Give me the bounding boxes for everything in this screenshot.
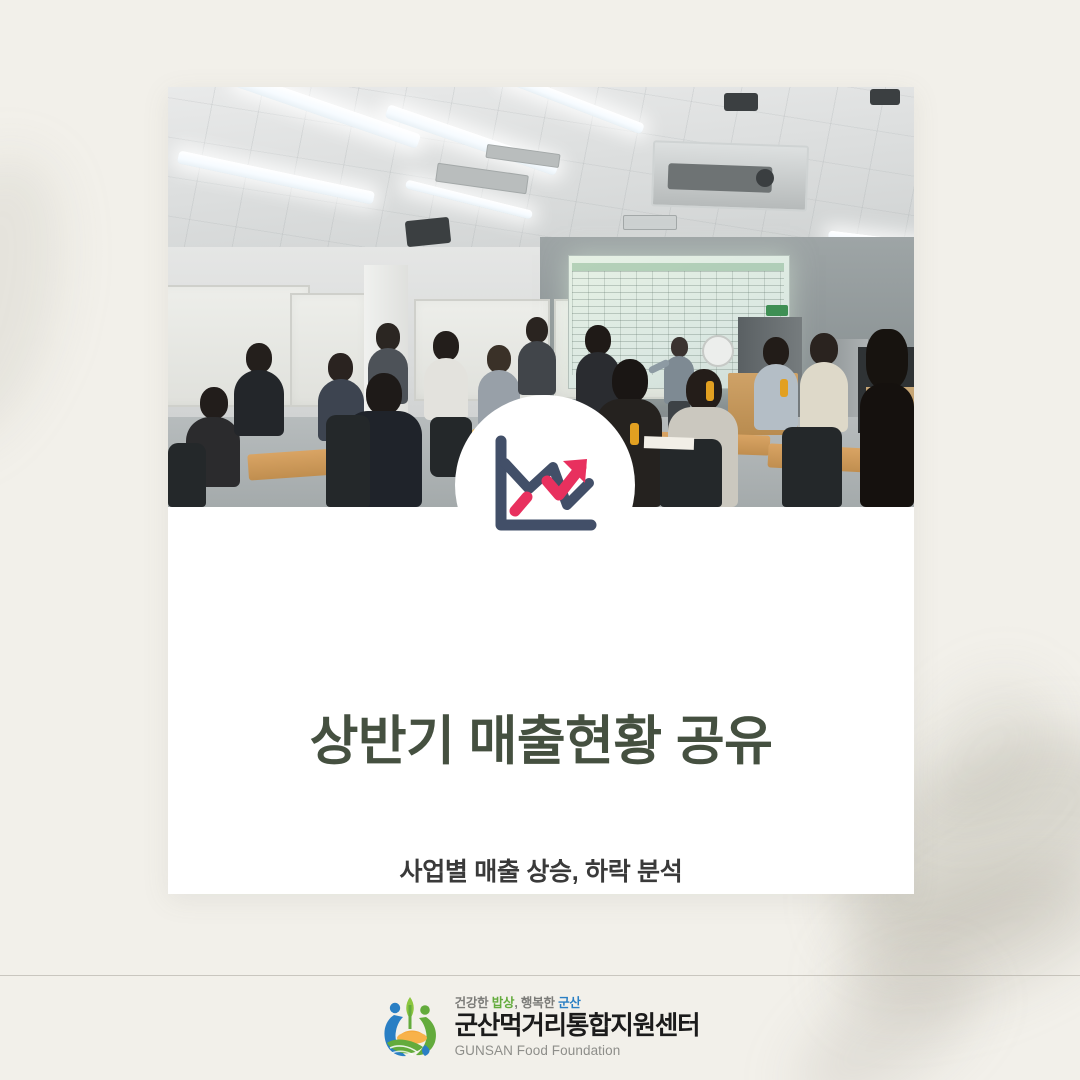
logo-tagline: 건강한 밥상, 행복한 군산 bbox=[455, 997, 700, 1011]
photo-person-head bbox=[612, 359, 648, 403]
photo-attendee bbox=[234, 343, 284, 463]
photo-person-body bbox=[754, 364, 798, 430]
photo-person-head bbox=[585, 325, 611, 355]
photo-person-head bbox=[366, 373, 402, 415]
logo-tagline-highlight-bapsang: 밥상 bbox=[492, 996, 515, 1010]
chart-icon-badge bbox=[455, 395, 635, 575]
photo-attendee bbox=[860, 329, 914, 507]
photo-ceiling-speaker bbox=[870, 89, 900, 105]
photo-ceiling-speaker bbox=[405, 217, 451, 247]
photo-person-head bbox=[376, 323, 400, 351]
photo-person-head bbox=[246, 343, 272, 373]
photo-person-body bbox=[518, 341, 556, 395]
gunsan-food-foundation-logo-icon bbox=[381, 995, 443, 1061]
photo-drink-bottle bbox=[630, 423, 639, 445]
photo-person-head bbox=[866, 329, 908, 389]
photo-paper bbox=[644, 436, 694, 450]
photo-drink-bottle bbox=[780, 379, 788, 397]
photo-person-body bbox=[800, 362, 848, 432]
photo-person-body bbox=[424, 358, 468, 420]
photo-person-head bbox=[200, 387, 228, 419]
photo-ceiling-vent bbox=[623, 215, 677, 230]
organization-logo: 건강한 밥상, 행복한 군산 군산먹거리통합지원센터 GUNSAN Food F… bbox=[381, 995, 700, 1061]
photo-person-head bbox=[763, 337, 789, 367]
photo-ceiling-speaker bbox=[724, 93, 758, 111]
photo-projector-lens bbox=[756, 169, 774, 187]
photo-drink-bottle bbox=[706, 381, 714, 401]
photo-person-head bbox=[487, 345, 511, 373]
logo-tagline-part1: 건강한 bbox=[455, 996, 492, 1010]
photo-wall-clock bbox=[702, 335, 734, 367]
organization-subtitle: GUNSAN Food Foundation bbox=[455, 1043, 700, 1059]
logo-tagline-highlight-gunsan: 군산 bbox=[558, 996, 581, 1010]
content-card: 상반기 매출현황 공유 사업별 매출 상승, 하락 분석 bbox=[168, 87, 914, 894]
leaf-shadow-shape bbox=[0, 138, 85, 463]
photo-chair bbox=[326, 415, 370, 507]
photo-chair bbox=[782, 427, 842, 507]
photo-screen-header bbox=[572, 263, 784, 271]
photo-person-head bbox=[671, 337, 688, 357]
page-subtitle: 사업별 매출 상승, 하락 분석 bbox=[168, 852, 914, 888]
photo-person-head bbox=[686, 369, 722, 411]
page-title: 상반기 매출현황 공유 bbox=[168, 711, 914, 774]
photo-chair bbox=[168, 443, 206, 507]
logo-text-block: 건강한 밥상, 행복한 군산 군산먹거리통합지원센터 GUNSAN Food F… bbox=[455, 997, 700, 1058]
photo-person-head bbox=[810, 333, 838, 365]
photo-person-body bbox=[234, 370, 284, 436]
logo-tagline-part2: , 행복한 bbox=[514, 996, 558, 1010]
organization-name: 군산먹거리통합지원센터 bbox=[455, 1013, 700, 1041]
photo-person-head bbox=[526, 317, 548, 343]
photo-person-head bbox=[433, 331, 459, 361]
photo-person-body bbox=[860, 383, 914, 507]
photo-exit-sign bbox=[766, 305, 788, 316]
line-chart-up-icon bbox=[491, 433, 599, 537]
footer: 건강한 밥상, 행복한 군산 군산먹거리통합지원센터 GUNSAN Food F… bbox=[0, 976, 1080, 1080]
